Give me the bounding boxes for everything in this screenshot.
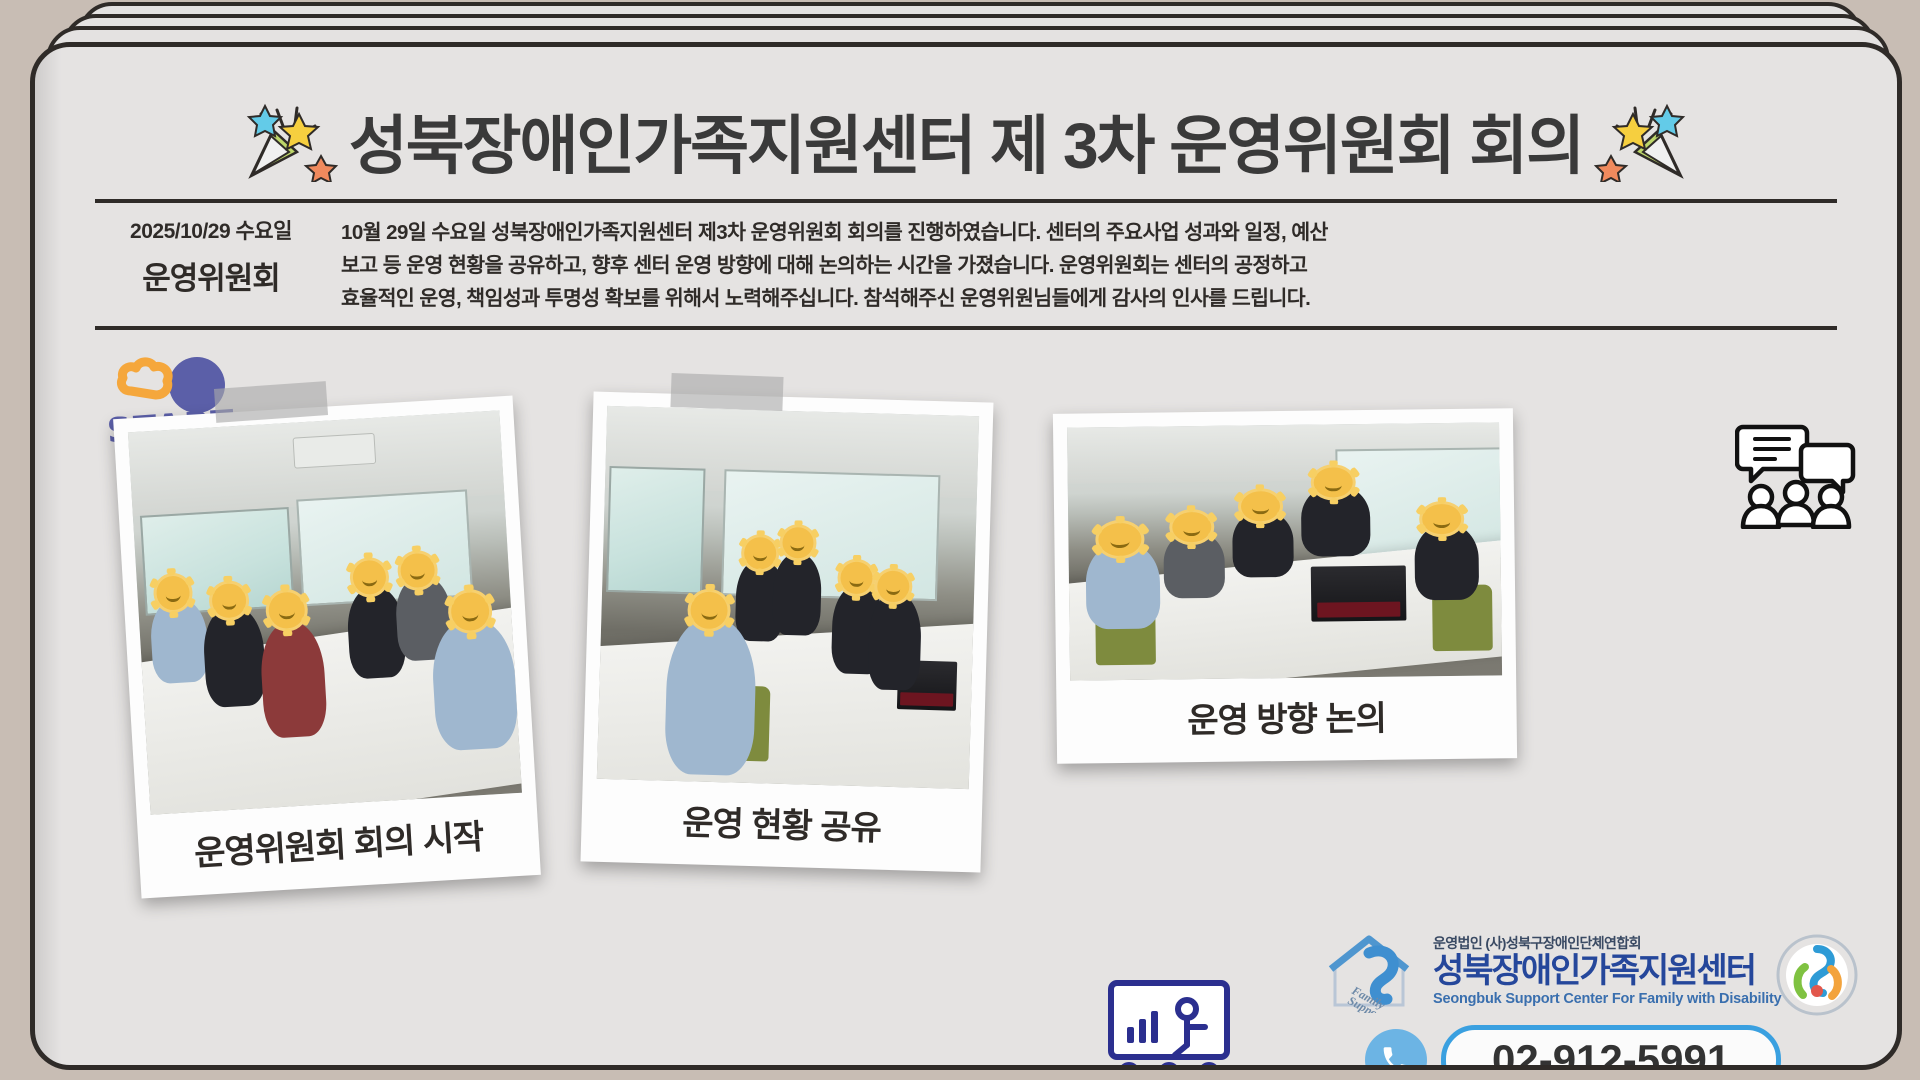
contact-row[interactable]: 02-912-5991	[1365, 1025, 1781, 1070]
phone-number[interactable]: 02-912-5991	[1441, 1025, 1781, 1070]
party-popper-icon	[243, 96, 339, 187]
body-line-3: 효율적인 운영, 책임성과 투명성 확보를 위해서 노력해주십니다. 참석해주신…	[341, 282, 1837, 315]
body-line-1: 10월 29일 수요일 성북장애인가족지원센터 제3차 운영위원회 회의를 진행…	[341, 216, 1837, 249]
brand-operator-line: 운영법인 (사)성북구장애인단체연합회	[1433, 933, 1782, 953]
meeting-photo-2	[597, 406, 979, 789]
info-left-column: 2025/10/29 수요일 운영위원회	[95, 213, 327, 298]
info-block: 2025/10/29 수요일 운영위원회 10월 29일 수요일 성북장애인가족…	[35, 203, 1897, 316]
event-label: 운영위원회	[95, 253, 327, 298]
tape-strip-2	[670, 373, 783, 411]
photo-caption-3: 운영 방향 논의	[1070, 675, 1503, 763]
body-line-2: 보고 등 운영 현황을 공유하고, 향후 센터 운영 방향에 대해 논의하는 시…	[341, 249, 1837, 282]
meeting-photo-1	[128, 410, 522, 814]
poster-header: 성북장애인가족지원센터 제 3차 운영위원회 회의	[35, 95, 1897, 330]
family-support-house-icon: Family Support	[1325, 931, 1421, 1018]
brand-name-ko: 성북장애인가족지원센터	[1433, 953, 1782, 990]
title-row: 성북장애인가족지원센터 제 3차 운영위원회 회의	[35, 95, 1897, 187]
info-body-text: 10월 29일 수요일 성북장애인가족지원센터 제3차 운영위원회 회의를 진행…	[341, 213, 1837, 316]
center-seal-icon	[1775, 933, 1859, 1017]
brand-text: 운영법인 (사)성북구장애인단체연합회 성북장애인가족지원센터 Seongbuk…	[1433, 931, 1782, 1007]
brand-block: Family Support 운영법인 (사)성북구장애인단체연합회 성북장애인…	[1325, 931, 1782, 1018]
phone-handset-icon	[1365, 1029, 1427, 1070]
divider-bottom	[95, 326, 1837, 330]
photo-card-1[interactable]: 운영위원회 회의 시작	[113, 396, 541, 899]
event-date: 2025/10/29 수요일	[95, 215, 327, 245]
presentation-chart-people-icon	[1105, 977, 1233, 1070]
party-popper-icon-right	[1593, 96, 1689, 187]
photo-card-2[interactable]: 운영 현황 공유	[581, 392, 994, 873]
meeting-photo-3	[1067, 422, 1502, 680]
photo-caption-2: 운영 현황 공유	[595, 779, 969, 872]
photo-card-3[interactable]: 운영 방향 논의	[1053, 408, 1517, 764]
brand-name-en: Seongbuk Support Center For Family with …	[1433, 991, 1782, 1007]
poster-page: 성북장애인가족지원센터 제 3차 운영위원회 회의	[30, 42, 1902, 1070]
page-title: 성북장애인가족지원센터 제 3차 운영위원회 회의	[349, 95, 1583, 187]
